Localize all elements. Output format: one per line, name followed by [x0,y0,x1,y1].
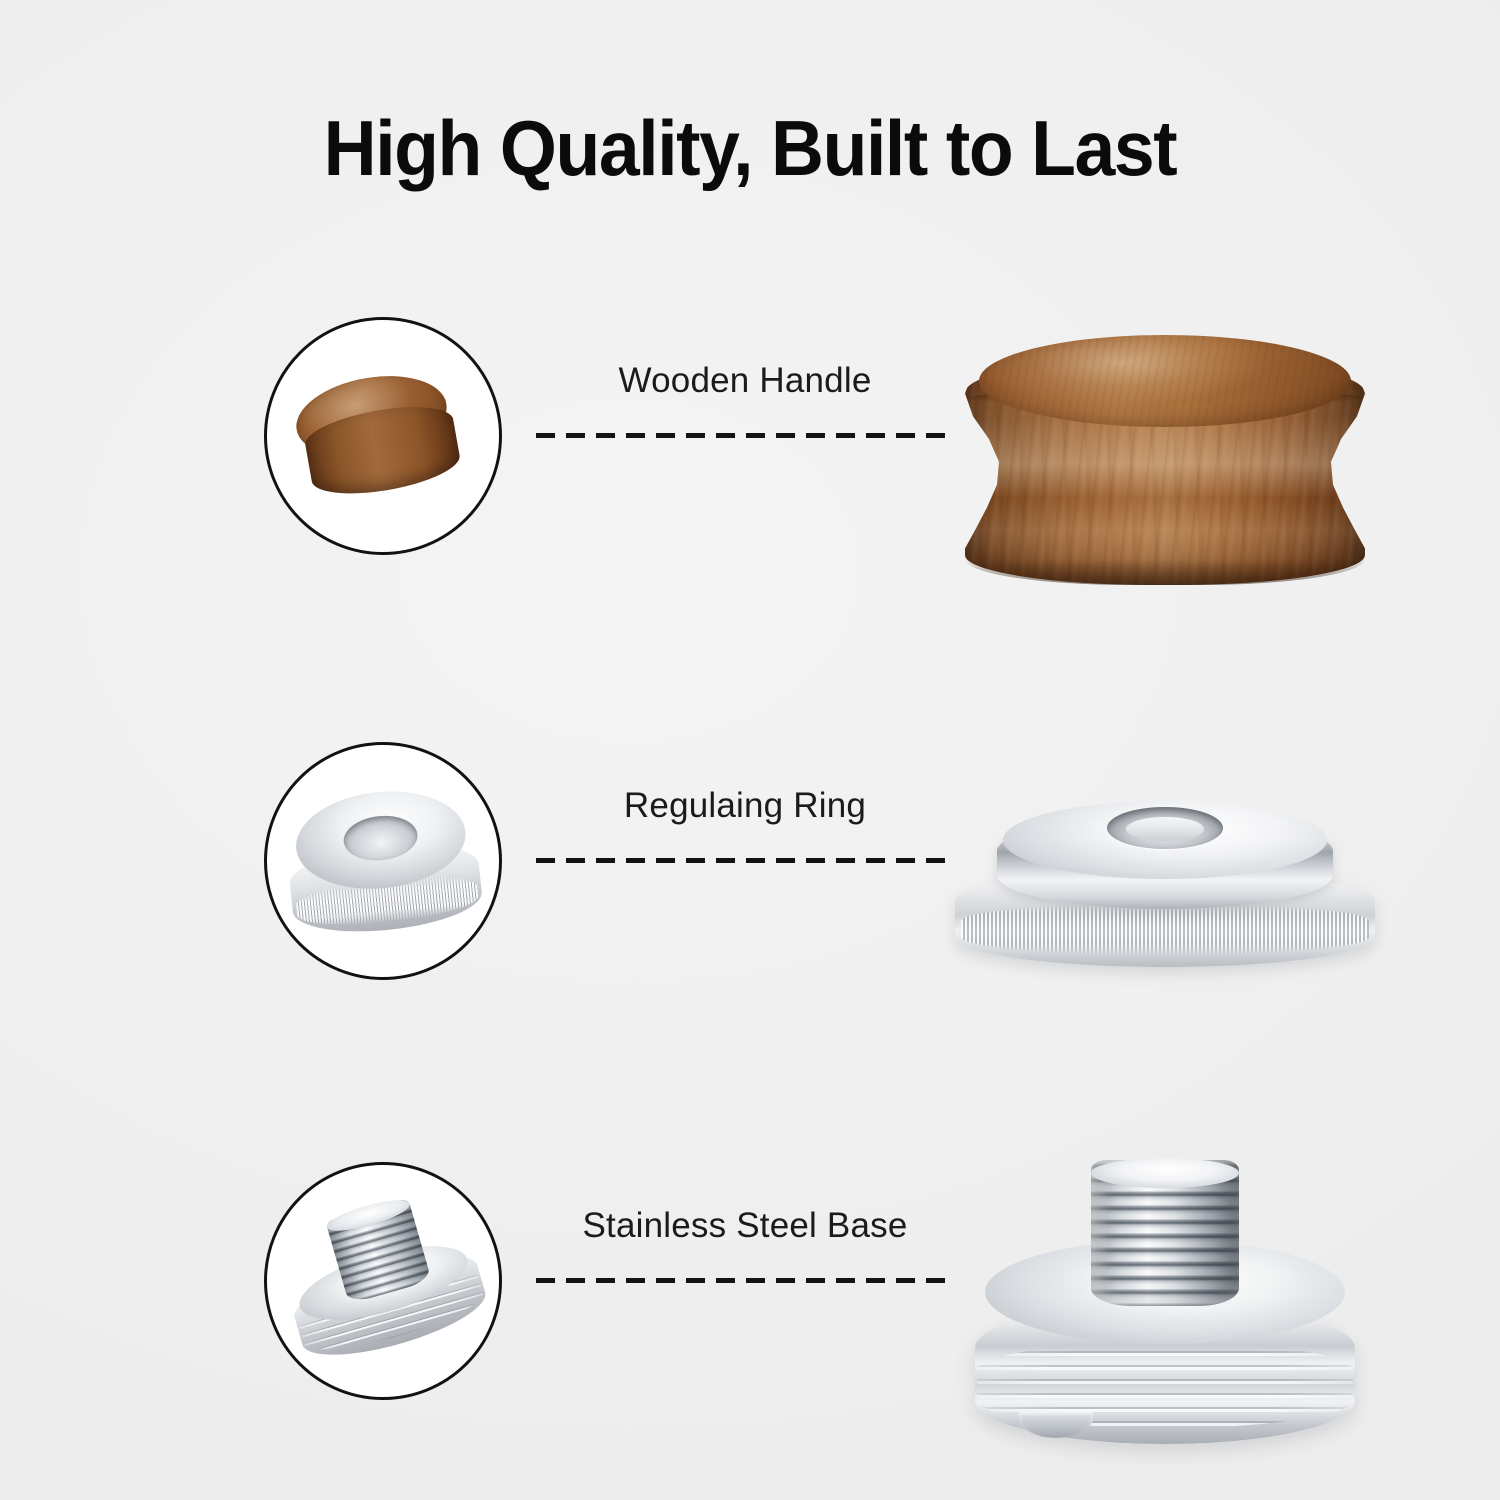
base-thumb-illustration [271,1183,495,1380]
ring-center-hole-inner [1126,817,1204,841]
dashed-connector-line [536,858,956,863]
connector-wooden-handle: Wooden Handle [520,361,970,511]
feature-label-stainless-steel-base: Stainless Steel Base [520,1206,970,1246]
feature-label-wooden-handle: Wooden Handle [520,361,970,401]
feature-label-regulating-ring: Regulaing Ring [520,786,970,826]
thumbnail-image-wooden-handle [267,320,499,552]
wood-grain-top-texture [979,335,1351,427]
thumbnail-image-regulating-ring [267,745,499,977]
ring-center-hole [1107,807,1223,849]
stainless-steel-base-illustration [975,1160,1355,1450]
hero-image-stainless-steel-base [930,1140,1400,1470]
regulating-ring-thumb-illustration [281,776,486,945]
wooden-handle-top-face [979,335,1351,427]
feature-row-regulating-ring: Regulaing Ring [0,720,1500,1050]
thumbnail-stainless-steel-base [264,1162,502,1400]
regulating-ring-illustration [955,795,1375,975]
wooden-handle-thumb-illustration [290,362,476,509]
wooden-handle-illustration [965,335,1365,585]
thumbnail-wooden-handle [264,317,502,555]
hero-image-regulating-ring [930,720,1400,1050]
feature-row-wooden-handle: Wooden Handle [0,295,1500,625]
page-title: High Quality, Built to Last [45,108,1455,190]
dashed-connector-line [536,1278,956,1283]
connector-stainless-steel-base: Stainless Steel Base [520,1206,970,1356]
hero-image-wooden-handle [930,295,1400,625]
feature-row-stainless-steel-base: Stainless Steel Base [0,1140,1500,1470]
ring-knurling [961,903,1369,955]
connector-regulating-ring: Regulaing Ring [520,786,970,936]
base-post-cap [1091,1158,1239,1188]
thumbnail-image-stainless-steel-base [267,1165,499,1397]
thumbnail-regulating-ring [264,742,502,980]
dashed-connector-line [536,433,956,438]
